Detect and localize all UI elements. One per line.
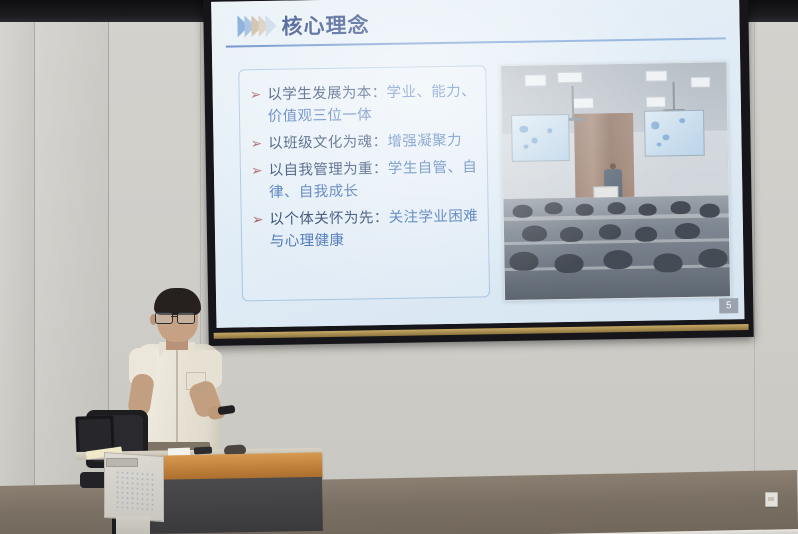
- bullet-lead: 以学生发展为本：: [267, 85, 386, 103]
- bullet-arrow-icon: ➢: [250, 133, 262, 155]
- bullet-arrow-icon: ➢: [252, 209, 264, 231]
- slide-title-row: 核心理念: [237, 9, 369, 41]
- bullet-arrow-icon: ➢: [250, 84, 262, 106]
- wall-outlet: [765, 492, 778, 507]
- bullet-content: 以班级文化为魂：增强凝聚力: [268, 130, 462, 155]
- bullet-lead: 以自我管理为重：: [269, 161, 388, 179]
- presentation-slide: 核心理念 ➢ 以学生发展为本：学业、能力、价值观三位一体 ➢ 以班级文化为魂：增…: [211, 0, 744, 328]
- photo-ceiling-light: [690, 77, 710, 89]
- classroom-scene: 核心理念 ➢ 以学生发展为本：学业、能力、价值观三位一体 ➢ 以班级文化为魂：增…: [0, 0, 798, 534]
- bullet-content: 以个体关怀为先：关注学业困难与心理健康: [269, 205, 480, 252]
- lectern-control-buttons[interactable]: [106, 458, 138, 467]
- chevron-right-icon: [265, 15, 276, 37]
- photo-audience: [503, 196, 730, 300]
- wall-seam: [34, 0, 35, 534]
- list-item: ➢ 以自我管理为重：学生自管、自律、自我成长: [251, 156, 480, 204]
- photo-ceiling-light: [645, 70, 667, 82]
- presenter-shirt-placket: [176, 350, 178, 442]
- bullet-content: 以学生发展为本：学业、能力、价值观三位一体: [267, 80, 478, 127]
- lectern-base: [116, 516, 150, 534]
- slide-number-badge: 5: [719, 298, 738, 313]
- slide-photo: [500, 61, 731, 301]
- wall-seam: [754, 0, 755, 534]
- desk-remote: [194, 447, 212, 455]
- lectern: [76, 452, 322, 534]
- chevron-arrows-icon: [237, 15, 272, 38]
- bullet-list-box: ➢ 以学生发展为本：学业、能力、价值观三位一体 ➢ 以班级文化为魂：增强凝聚力 …: [238, 65, 490, 301]
- wall-panel: [0, 0, 34, 534]
- screen-surface: 核心理念 ➢ 以学生发展为本：学业、能力、价值观三位一体 ➢ 以班级文化为魂：增…: [211, 0, 744, 328]
- bullet-content: 以自我管理为重：学生自管、自律、自我成长: [268, 156, 479, 203]
- list-item: ➢ 以学生发展为本：学业、能力、价值观三位一体: [250, 80, 479, 128]
- photo-ceiling-light: [646, 96, 666, 108]
- lectern-panel-texture: [115, 470, 155, 511]
- photo-left-screen: [511, 114, 570, 161]
- slide-title: 核心理念: [281, 9, 369, 40]
- presenter-shirt-pocket: [186, 372, 206, 390]
- photo-right-screen: [644, 110, 705, 157]
- photo-ceiling-light: [524, 75, 546, 87]
- remote-clicker-icon: [218, 405, 236, 415]
- glasses-icon: [154, 312, 200, 322]
- bullet-arrow-icon: ➢: [251, 160, 263, 182]
- bullet-detail: 增强凝聚力: [387, 133, 462, 150]
- bullet-lead: 以个体关怀为先：: [269, 210, 388, 228]
- presenter-hair: [154, 288, 201, 315]
- list-item: ➢ 以班级文化为魂：增强凝聚力: [250, 129, 478, 155]
- photo-ceiling-light: [572, 97, 594, 109]
- lectern-body: [142, 477, 323, 534]
- bullet-lead: 以班级文化为魂：: [268, 134, 387, 152]
- list-item: ➢ 以个体关怀为先：关注学业困难与心理健康: [252, 205, 481, 253]
- photo-ceiling-light: [558, 72, 583, 84]
- projection-screen: 核心理念 ➢ 以学生发展为本：学业、能力、价值观三位一体 ➢ 以班级文化为魂：增…: [203, 0, 754, 346]
